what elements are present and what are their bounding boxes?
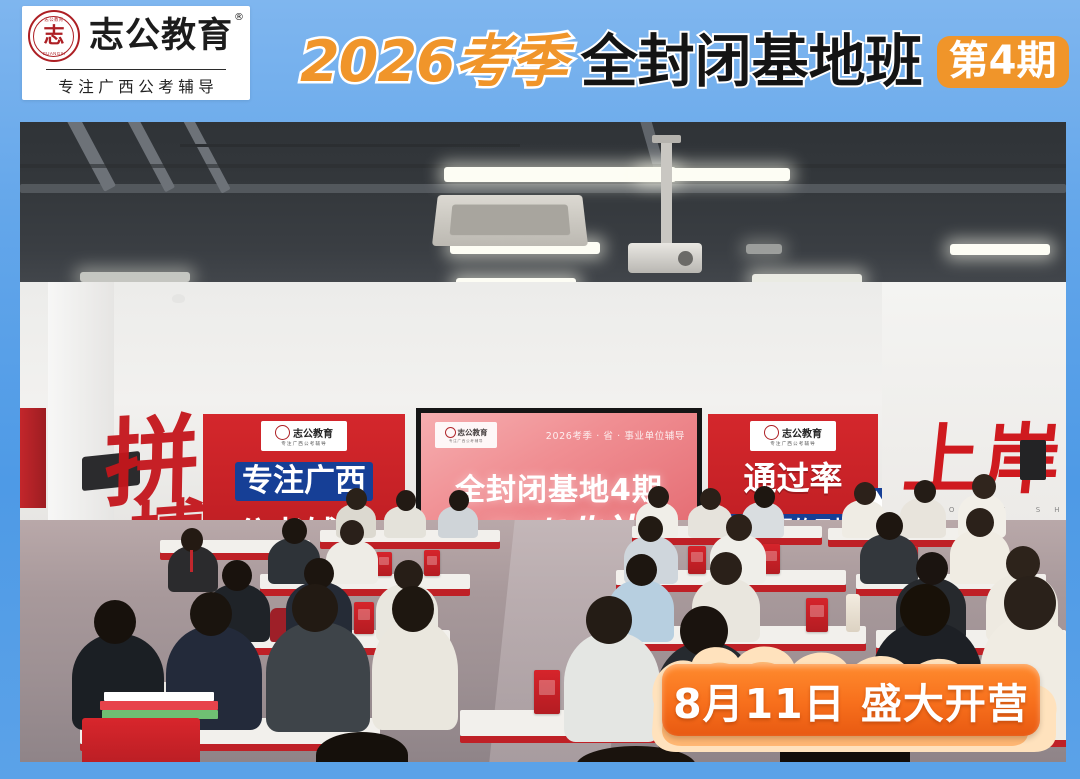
- student-head: [900, 584, 950, 636]
- student-head: [726, 514, 752, 541]
- banner-right-logo-text: 志公教育: [782, 425, 822, 440]
- student: [372, 620, 458, 730]
- student: [266, 622, 370, 732]
- poster-header: 志公教育 志 GUANGXI 志公教育® 专注广西公考辅导 2026考季 全封闭…: [0, 0, 1080, 120]
- logo-divider: [46, 69, 226, 70]
- title-edition-badge: 第4期: [937, 36, 1069, 88]
- seal-arc-bottom-text: GUANGXI: [42, 51, 65, 56]
- screen-logo: 志公教育 专注广西公考辅导: [435, 422, 497, 448]
- brand-tagline: 专注广西公考辅导: [54, 75, 219, 97]
- student-head: [449, 490, 469, 511]
- title-main: 全封闭基地班: [581, 34, 923, 91]
- screen-logo-text: 志公教育: [458, 427, 488, 438]
- projector: [628, 243, 702, 273]
- student: [860, 534, 918, 584]
- student-head: [972, 474, 996, 499]
- student-head: [710, 552, 742, 585]
- student-head: [914, 480, 936, 503]
- fire-hose-cabinet: [20, 408, 46, 508]
- student-head: [346, 488, 367, 510]
- student-head: [340, 520, 364, 545]
- student-head: [966, 508, 994, 537]
- wall-speaker-right: [1020, 440, 1046, 480]
- opening-date-text: 8月11日 盛大开营: [673, 670, 1029, 730]
- ribbon-body: 8月11日 盛大开营: [662, 664, 1040, 736]
- banner-left-seal-icon: [275, 425, 290, 440]
- student-head: [1004, 576, 1056, 630]
- screen-logo-sub: 专注广西公考辅导: [449, 439, 483, 444]
- drink-bottle: [846, 594, 860, 632]
- tote-bag: [82, 718, 200, 762]
- brand-name-text: 志公教育: [89, 16, 233, 56]
- banner-right-logo: 志公教育 专注广西公考辅导: [750, 421, 836, 451]
- student-head: [626, 554, 657, 586]
- student: [326, 540, 378, 584]
- registered-mark: ®: [234, 12, 245, 23]
- seal-icon: 志公教育 志 GUANGXI: [28, 10, 80, 62]
- student-head: [916, 552, 948, 585]
- gift-box: [534, 670, 560, 714]
- book-stack: [100, 701, 218, 710]
- student-head: [396, 490, 416, 511]
- gift-box: [424, 550, 440, 576]
- gift-box: [688, 546, 706, 574]
- seal-character: 志: [43, 26, 64, 47]
- gift-box: [376, 552, 392, 576]
- student-head: [876, 512, 903, 540]
- student-head: [754, 486, 775, 508]
- student-head: [638, 516, 663, 542]
- student-head: [392, 586, 434, 632]
- student-head: [94, 600, 136, 644]
- banner-right-logo-sub: 专注广西公考辅导: [770, 441, 816, 447]
- instructor: [168, 546, 218, 592]
- ceiling: [20, 122, 1066, 292]
- screen-corner-tag: 2026考季 · 省 · 事业单位辅导: [546, 428, 685, 442]
- instructor-lanyard: [190, 550, 193, 572]
- gift-box: [806, 598, 828, 632]
- poster-canvas: 志公教育 志 GUANGXI 志公教育® 专注广西公考辅导 2026考季 全封闭…: [0, 0, 1080, 779]
- cctv-camera-icon: [172, 294, 185, 303]
- title-year: 2026考季: [300, 34, 567, 91]
- screen-seal-icon: [445, 427, 456, 438]
- air-conditioner: [432, 195, 588, 246]
- student-head: [586, 596, 632, 644]
- student: [900, 498, 946, 538]
- gift-box: [354, 602, 374, 634]
- student-head: [190, 592, 232, 636]
- banner-left-logo-sub: 专注广西公考辅导: [281, 441, 327, 447]
- banner-right-seal-icon: [764, 425, 779, 440]
- student-head: [222, 560, 252, 591]
- brand-logo-row: 志公教育 志 GUANGXI 志公教育®: [28, 9, 244, 63]
- brand-name: 志公教育®: [89, 19, 244, 54]
- student-head: [292, 584, 338, 632]
- banner-left-logo: 志公教育 专注广西公考辅导: [261, 421, 347, 451]
- student-head: [282, 518, 307, 544]
- book-stack: [104, 692, 214, 701]
- student: [950, 530, 1010, 584]
- student-head: [700, 488, 721, 510]
- student-head: [648, 486, 669, 508]
- opening-date-ribbon: 8月11日 盛大开营: [636, 638, 1066, 756]
- student-head: [854, 482, 876, 505]
- poster-title: 2026考季 全封闭基地班 第4期: [300, 22, 1060, 102]
- brand-logo-card: 志公教育 志 GUANGXI 志公教育® 专注广西公考辅导: [22, 6, 250, 100]
- banner-left-logo-text: 志公教育: [293, 425, 333, 440]
- instructor-head: [181, 528, 203, 552]
- projector-mount: [661, 140, 672, 248]
- seal-arc-top-text: 志公教育: [44, 17, 63, 23]
